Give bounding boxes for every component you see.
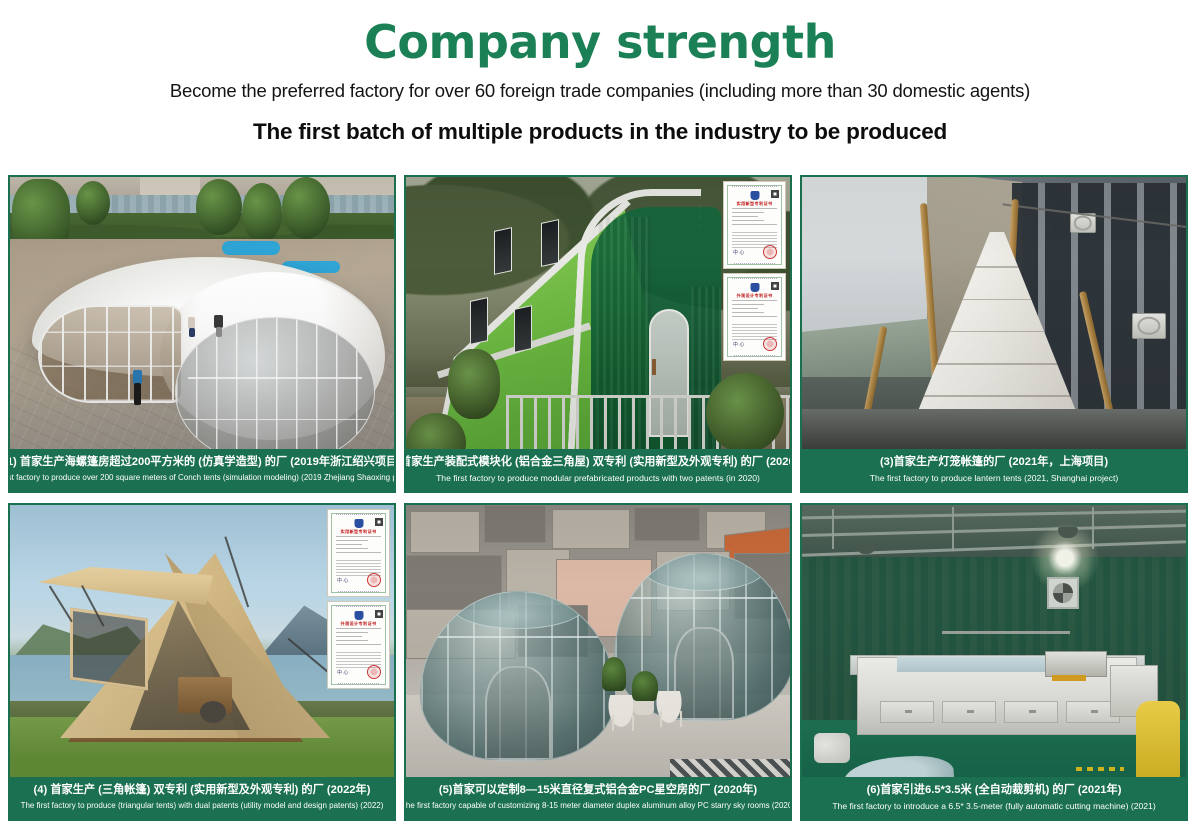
caption-bar-3: (3)首家生产灯笼帐篷的厂 (2021年，上海项目) The first fac… [802, 449, 1186, 491]
photo-green-a-frame-house: 实用新型专利证书 中 心 外观设计专利证书 中 心 [406, 177, 790, 491]
certificate-title: 外观设计专利证书 [724, 293, 785, 299]
caption-en-2: The first factory to produce modular pre… [436, 472, 760, 484]
patent-certificate-utility-model: 实用新型专利证书 中 心 [723, 181, 786, 269]
patent-certificate-utility-model: 实用新型专利证书 中 心 [327, 509, 390, 597]
caption-bar-4: (4) 首家生产 (三角帐篷) 双专利 (实用新型及外观专利) 的厂 (2022… [10, 777, 394, 819]
caption-cn-5: (5)首家可以定制8—15米直径复式铝合金PC星空房的厂 (2020年) [439, 783, 757, 798]
gallery-card-2[interactable]: 实用新型专利证书 中 心 外观设计专利证书 中 心 [404, 175, 792, 493]
certificate-title: 外观设计专利证书 [328, 621, 389, 627]
caption-cn-3: (3)首家生产灯笼帐篷的厂 (2021年，上海项目) [880, 455, 1108, 470]
photo-glass-dome-rooms [406, 505, 790, 819]
gallery-card-6[interactable]: (6)首家引进6.5*3.5米 (全自动裁剪机) 的厂 (2021年) The … [800, 503, 1188, 821]
caption-en-1: The first factory to produce over 200 sq… [8, 472, 396, 483]
page-title: Company strength [0, 18, 1200, 66]
caption-cn-6: (6)首家引进6.5*3.5米 (全自动裁剪机) 的厂 (2021年) [867, 783, 1122, 798]
gallery-card-4[interactable]: 实用新型专利证书 中 心 外观设计专利证书 中 心 (4) 首家生产 [8, 503, 396, 821]
caption-cn-2: (2)首家生产装配式模块化 (铝合金三角屋) 双专利 (实用新型及外观专利) 的… [404, 455, 792, 470]
poster-header: Company strength Become the preferred fa… [0, 0, 1200, 145]
image-gallery-grid: (1) 首家生产海螺篷房超过200平方米的 (仿真学造型) 的厂 (2019年浙… [8, 175, 1192, 821]
caption-bar-2: (2)首家生产装配式模块化 (铝合金三角屋) 双专利 (实用新型及外观专利) 的… [406, 449, 790, 491]
photo-triangular-tent: 实用新型专利证书 中 心 外观设计专利证书 中 心 [10, 505, 394, 819]
photo-factory-cutting-machine [802, 505, 1186, 819]
caption-en-3: The first factory to produce lantern ten… [870, 472, 1118, 484]
photo-lantern-tent [802, 177, 1186, 491]
certificate-title: 实用新型专利证书 [724, 201, 785, 207]
certificate-overlay-stack-4: 实用新型专利证书 中 心 外观设计专利证书 中 心 [327, 509, 390, 693]
caption-bar-5: (5)首家可以定制8—15米直径复式铝合金PC星空房的厂 (2020年) The… [406, 777, 790, 819]
company-strength-poster: Company strength Become the preferred fa… [0, 0, 1200, 835]
patent-certificate-design: 外观设计专利证书 中 心 [723, 273, 786, 361]
caption-en-6: The first factory to introduce a 6.5* 3.… [832, 800, 1155, 812]
dome-left [420, 591, 616, 761]
gallery-card-5[interactable]: (5)首家可以定制8—15米直径复式铝合金PC星空房的厂 (2020年) The… [404, 503, 792, 821]
gallery-card-3[interactable]: (3)首家生产灯笼帐篷的厂 (2021年，上海项目) The first fac… [800, 175, 1188, 493]
page-subtitle-secondary: The first batch of multiple products in … [0, 119, 1200, 145]
patent-certificate-design: 外观设计专利证书 中 心 [327, 601, 390, 689]
photo-conch-tent [10, 177, 394, 491]
caption-bar-1: (1) 首家生产海螺篷房超过200平方米的 (仿真学造型) 的厂 (2019年浙… [10, 449, 394, 491]
page-subtitle: Become the preferred factory for over 60… [0, 80, 1200, 102]
caption-cn-1: (1) 首家生产海螺篷房超过200平方米的 (仿真学造型) 的厂 (2019年浙… [8, 455, 396, 470]
certificate-title: 实用新型专利证书 [328, 529, 389, 535]
caption-en-5: The first factory capable of customizing… [404, 800, 792, 811]
caption-bar-6: (6)首家引进6.5*3.5米 (全自动裁剪机) 的厂 (2021年) The … [802, 777, 1186, 819]
caption-en-4: The first factory to produce (triangular… [21, 800, 384, 811]
gallery-card-1[interactable]: (1) 首家生产海螺篷房超过200平方米的 (仿真学造型) 的厂 (2019年浙… [8, 175, 396, 493]
certificate-overlay-stack-2: 实用新型专利证书 中 心 外观设计专利证书 中 心 [723, 181, 786, 365]
caption-cn-4: (4) 首家生产 (三角帐篷) 双专利 (实用新型及外观专利) 的厂 (2022… [34, 783, 371, 798]
